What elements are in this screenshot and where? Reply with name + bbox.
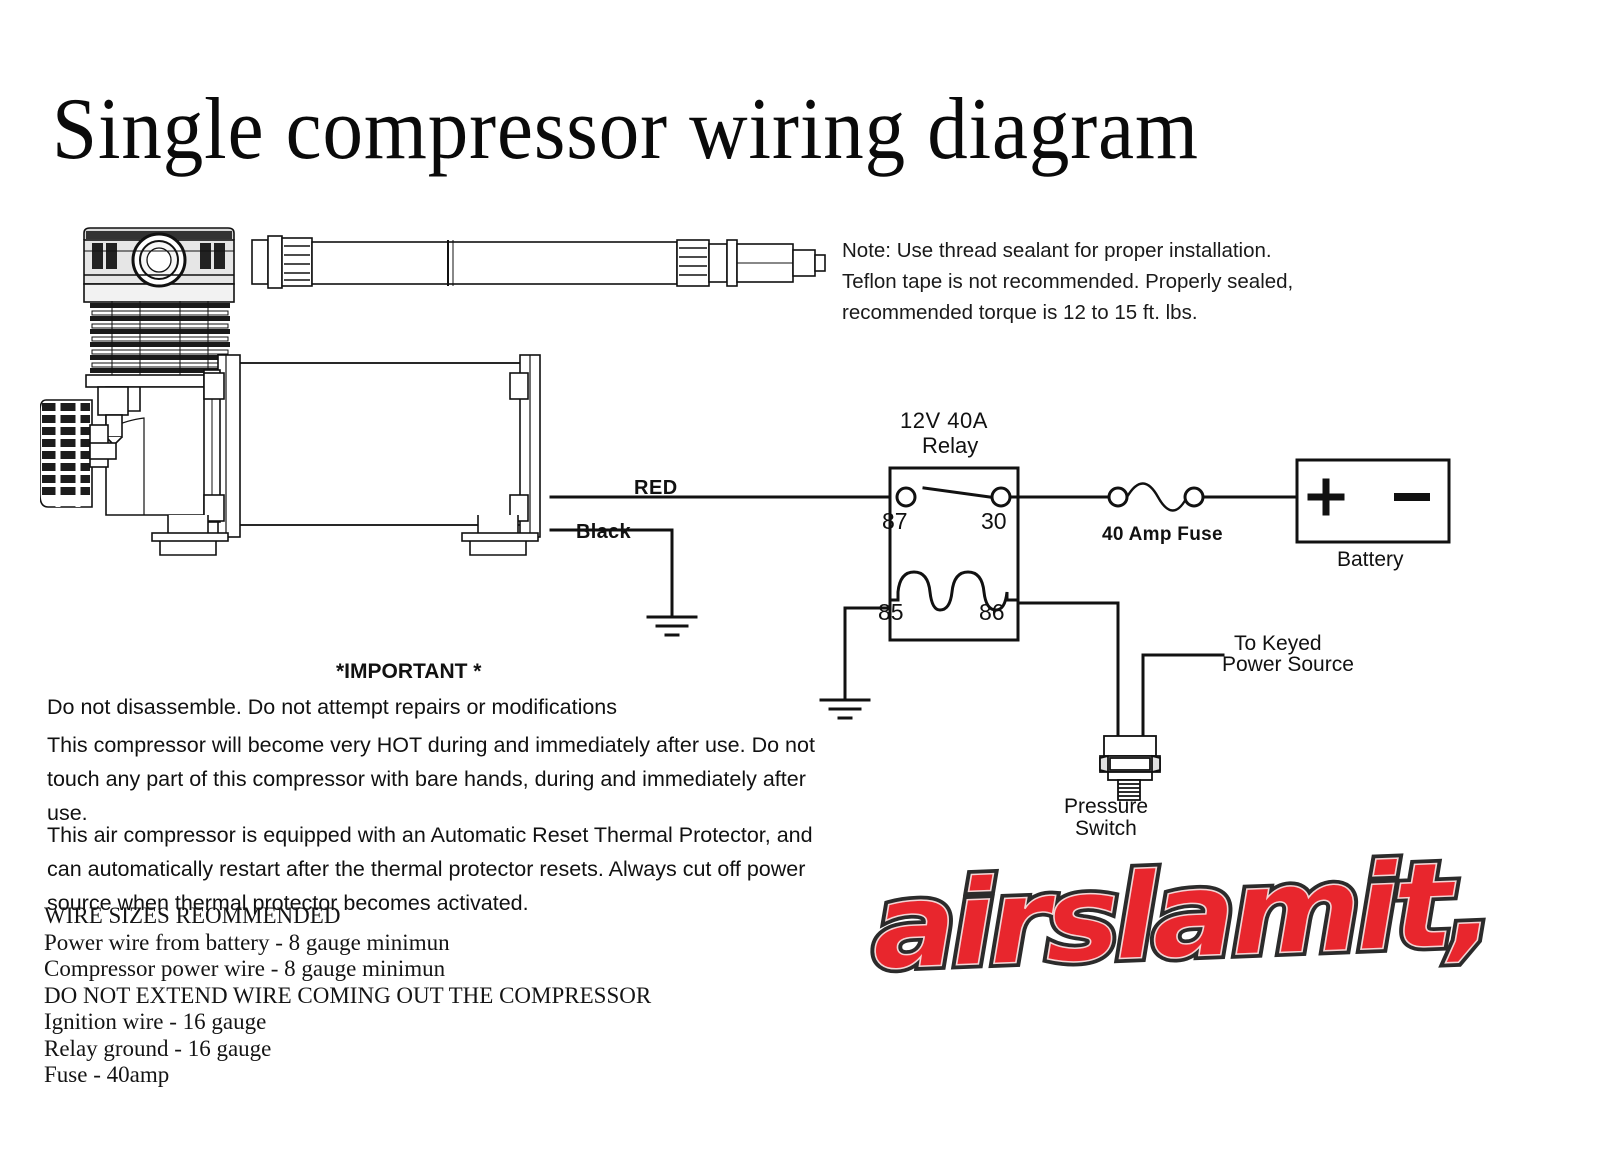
wire-sizes-line-1: Power wire from battery - 8 gauge minimu… [44, 930, 684, 957]
note-line-2: Teflon tape is not recommended. Properly… [842, 266, 1362, 297]
wire-sizes-heading: WIRE SIZES REOMMENDED [44, 903, 684, 930]
keyed-power-label-line2: Power Source [1222, 653, 1354, 677]
label-black-wire: Black [576, 521, 631, 544]
pressure-switch-label-line2: Switch [1075, 817, 1137, 841]
pressure-switch-illustration [1078, 716, 1178, 802]
note-line-1: Note: Use thread sealant for proper inst… [842, 235, 1362, 266]
relay-terminal-30-label: 30 [981, 508, 1007, 535]
wire-sizes-line-6: Fuse - 40amp [44, 1062, 684, 1089]
wire-sizes-line-2: Compressor power wire - 8 gauge minimun [44, 956, 684, 983]
important-heading: *IMPORTANT * [336, 660, 481, 684]
pressure-switch-label-line1: Pressure [1064, 795, 1148, 819]
relay-terminal-87 [897, 488, 915, 506]
fuse-terminal-right [1185, 488, 1203, 506]
wire-sizes-line-4: Ignition wire - 16 gauge [44, 1009, 684, 1036]
important-paragraph-2: This compressor will become very HOT dur… [47, 728, 827, 830]
fuse-element [1127, 484, 1187, 511]
relay-terminal-30 [992, 488, 1010, 506]
wire-sizes-line-3: DO NOT EXTEND WIRE COMING OUT THE COMPRE… [44, 983, 684, 1010]
thread-sealant-note: Note: Use thread sealant for proper inst… [842, 235, 1362, 328]
fuse-label: 40 Amp Fuse [1102, 524, 1223, 546]
relay-title-line2: Relay [922, 433, 978, 459]
wire-pressure-switch-to-keyed-power [1143, 655, 1223, 722]
diagram-canvas: Single compressor wiring diagram [0, 0, 1600, 1163]
relay-terminal-86-label: 86 [979, 599, 1005, 626]
fuse-terminal-left [1109, 488, 1127, 506]
relay-terminal-87-label: 87 [882, 508, 908, 535]
note-line-3: recommended torque is 12 to 15 ft. lbs. [842, 297, 1362, 328]
ground-symbol-compressor [648, 617, 696, 635]
label-red-wire: RED [634, 477, 678, 500]
wire-sizes-block: WIRE SIZES REOMMENDED Power wire from ba… [44, 903, 684, 1089]
relay-title-line1: 12V 40A [900, 408, 988, 434]
important-paragraph-1: Do not disassemble. Do not attempt repai… [47, 692, 847, 722]
battery-label: Battery [1337, 548, 1404, 572]
wire-relay86-to-pressure-switch [1018, 603, 1118, 722]
airslamit-logo: airslamit, airslamit, [872, 858, 1562, 998]
airslamit-logo-fill: airslamit, [869, 834, 1492, 996]
wire-sizes-line-5: Relay ground - 16 gauge [44, 1036, 684, 1063]
relay-terminal-85-label: 85 [878, 599, 904, 626]
